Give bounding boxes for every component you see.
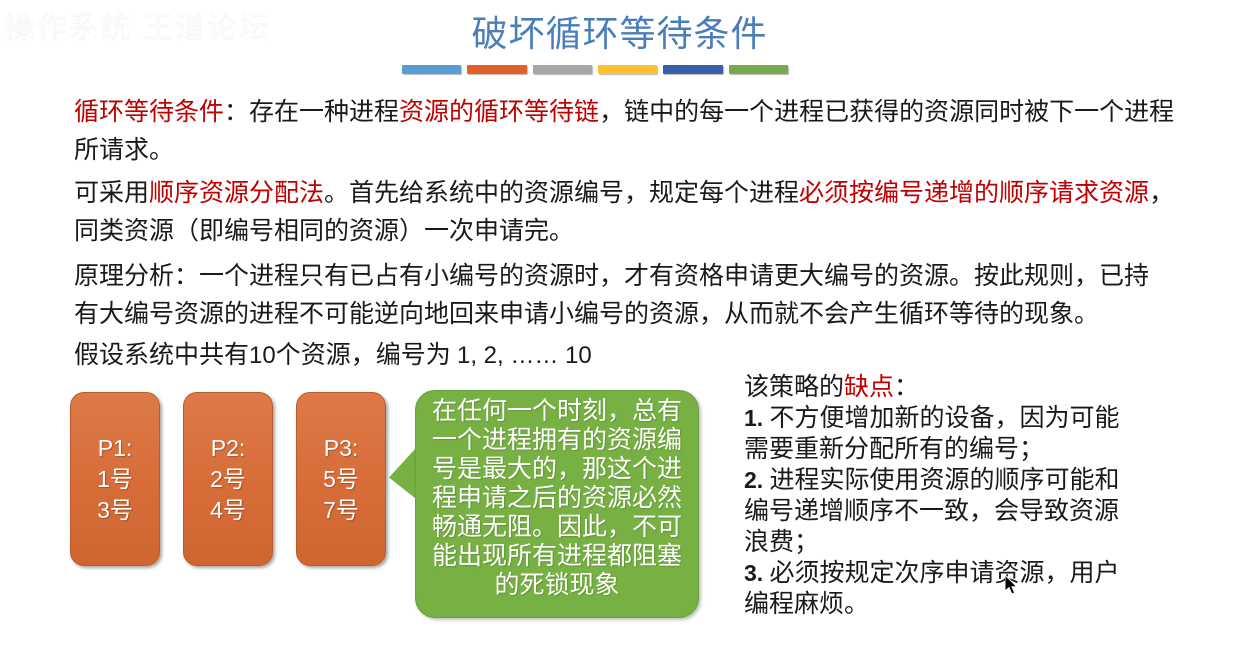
drawback-item-3: 3. 必须按规定次序申请资源，用户编程麻烦。 bbox=[744, 558, 1124, 620]
p1-separator: ： bbox=[224, 99, 249, 126]
process-p1-name: P1: bbox=[98, 433, 133, 464]
drawback-2-text: 进程实际使用资源的顺序可能和编号递增顺序不一致，会导致资源浪费； bbox=[744, 467, 1119, 556]
p4-number-list: 1, 2, …… 10 bbox=[457, 342, 592, 369]
accent-bar-6 bbox=[729, 65, 788, 74]
drawback-item-1: 1. 不方便增加新的设备，因为可能需要重新分配所有的编号； bbox=[744, 403, 1124, 465]
drawback-1-text: 不方便增加新的设备，因为可能需要重新分配所有的编号； bbox=[744, 405, 1119, 463]
drawback-3-index: 3. bbox=[744, 560, 763, 586]
process-p2-resource-1: 2号 bbox=[210, 464, 246, 495]
paragraph-principle-analysis: 原理分析：一个进程只有已占有小编号的资源时，才有资格申请更大编号的资源。按此规则… bbox=[74, 258, 1164, 334]
drawbacks-block: 该策略的缺点： 1. 不方便增加新的设备，因为可能需要重新分配所有的编号； 2.… bbox=[744, 372, 1124, 620]
page-title: 破坏循环等待条件 bbox=[0, 12, 1239, 56]
p2-highlight-method: 顺序资源分配法 bbox=[149, 180, 324, 207]
paragraph-circular-wait-definition: 循环等待条件：存在一种进程资源的循环等待链，链中的每一个进程已获得的资源同时被下… bbox=[74, 94, 1179, 170]
paragraph-assumption: 假设系统中共有10个资源，编号为 1, 2, …… 10 bbox=[74, 337, 774, 375]
p4-pre-text: 假设系统中共有 bbox=[74, 342, 249, 369]
process-p1-resource-1: 1号 bbox=[97, 464, 133, 495]
p4-resource-count: 10 bbox=[249, 342, 276, 369]
p4-mid-text: 个资源，编号为 bbox=[276, 342, 457, 369]
p1-mid-text: 存在一种进程 bbox=[249, 99, 399, 126]
accent-bar-3 bbox=[533, 65, 592, 74]
process-p2-resource-2: 4号 bbox=[210, 495, 246, 526]
process-p1-resource-2: 3号 bbox=[97, 495, 133, 526]
drawbacks-heading-highlight: 缺点 bbox=[844, 374, 894, 401]
p1-highlight-chain: 资源的循环等待链 bbox=[399, 99, 599, 126]
p1-lead-term: 循环等待条件 bbox=[74, 99, 224, 126]
callout-text: 在任何一个时刻，总有一个进程拥有的资源编号是最大的，那这个进程申请之后的资源必然… bbox=[421, 395, 693, 615]
process-box-p3[interactable]: P3: 5号 7号 bbox=[296, 392, 386, 566]
drawbacks-heading-post: ： bbox=[894, 374, 919, 401]
process-box-p1[interactable]: P1: 1号 3号 bbox=[70, 392, 160, 566]
drawbacks-heading: 该策略的缺点： bbox=[744, 372, 1124, 403]
process-p3-resource-2: 7号 bbox=[323, 495, 359, 526]
p2-lead-text: 可采用 bbox=[74, 180, 149, 207]
accent-bar-1 bbox=[402, 65, 461, 74]
p2-mid-text: 。首先给系统中的资源编号，规定每个进程 bbox=[324, 180, 799, 207]
accent-bar-4 bbox=[598, 65, 657, 74]
accent-bar-5 bbox=[663, 65, 722, 74]
process-box-p2[interactable]: P2: 2号 4号 bbox=[183, 392, 273, 566]
accent-bar-2 bbox=[467, 65, 526, 74]
accent-bar-group bbox=[402, 65, 788, 76]
drawback-3-text: 必须按规定次序申请资源，用户编程麻烦。 bbox=[744, 560, 1119, 618]
callout-bubble[interactable]: 在任何一个时刻，总有一个进程拥有的资源编号是最大的，那这个进程申请之后的资源必然… bbox=[389, 390, 699, 618]
drawback-2-index: 2. bbox=[744, 467, 763, 493]
drawback-1-index: 1. bbox=[744, 405, 763, 431]
process-p3-resource-1: 5号 bbox=[323, 464, 359, 495]
process-p2-name: P2: bbox=[211, 433, 246, 464]
slide-canvas: 操作系统 王道论坛 破坏循环等待条件 循环等待条件：存在一种进程资源的循环等待链… bbox=[0, 0, 1239, 646]
p2-highlight-rule: 必须按编号递增的顺序请求资源 bbox=[799, 180, 1149, 207]
paragraph-ordered-allocation: 可采用顺序资源分配法。首先给系统中的资源编号，规定每个进程必须按编号递增的顺序请… bbox=[74, 175, 1179, 251]
process-p3-name: P3: bbox=[324, 433, 359, 464]
drawback-item-2: 2. 进程实际使用资源的顺序可能和编号递增顺序不一致，会导致资源浪费； bbox=[744, 465, 1124, 558]
drawbacks-heading-pre: 该策略的 bbox=[744, 374, 844, 401]
